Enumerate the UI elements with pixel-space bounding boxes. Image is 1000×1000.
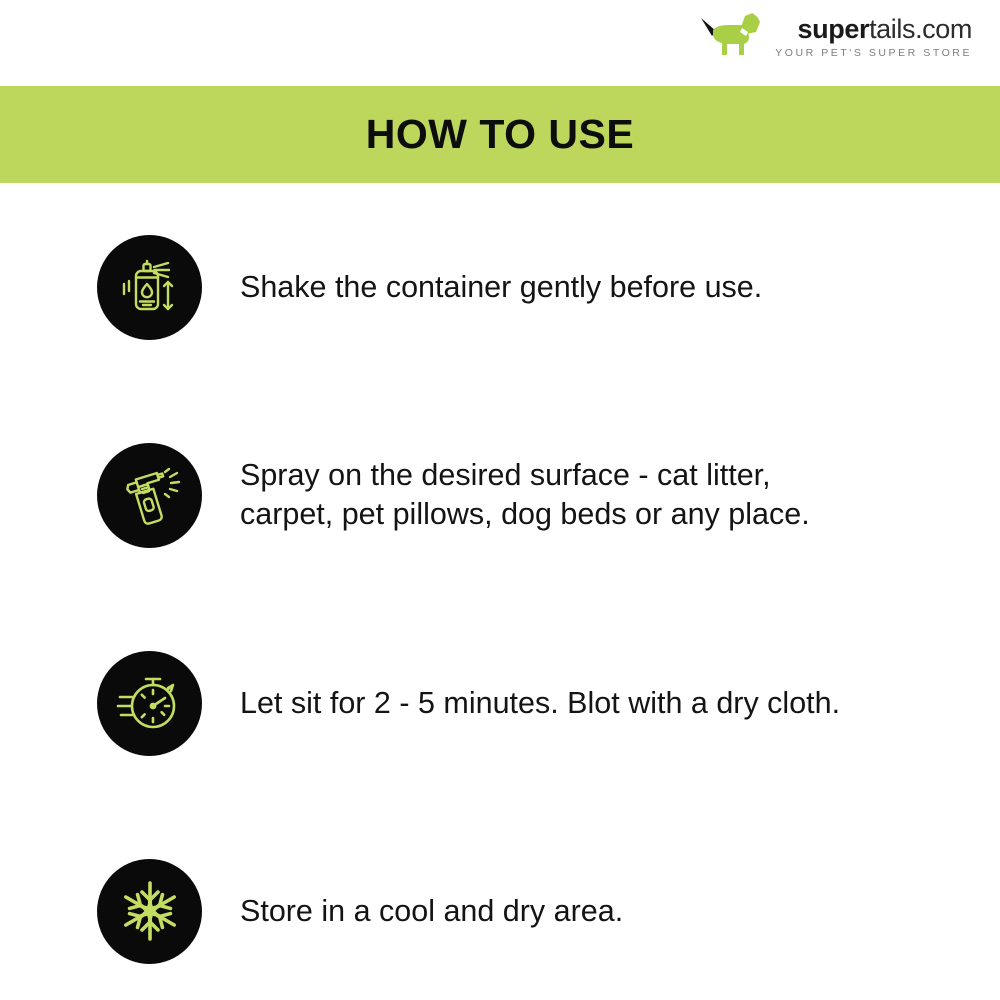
step-text-line: Shake the container gently before use. [240,268,762,307]
how-to-use-banner: HOW TO USE [0,86,1000,183]
page-title: HOW TO USE [366,111,634,158]
trigger-spray-bottle-icon [97,443,202,548]
header: supertails.com YOUR PET'S SUPER STORE [0,0,1000,86]
shake-spray-can-icon [97,235,202,340]
how-to-use-infographic: supertails.com YOUR PET'S SUPER STORE HO… [0,0,1000,1000]
step-text: Let sit for 2 - 5 minutes. Blot with a d… [240,684,840,723]
logo-wordmark: supertails.com [798,14,972,44]
step-text-line: Spray on the desired surface - cat litte… [240,456,810,495]
step-text: Store in a cool and dry area. [240,892,623,931]
step-text: Spray on the desired surface - cat litte… [240,456,810,534]
stopwatch-icon [97,651,202,756]
logo-wordmark-light: tails.com [869,14,972,44]
step-item: Let sit for 2 - 5 minutes. Blot with a d… [0,599,1000,807]
step-text-line: Let sit for 2 - 5 minutes. Blot with a d… [240,684,840,723]
steps-list: Shake the container gently before use. [0,183,1000,1000]
step-item: Store in a cool and dry area. [0,807,1000,1000]
step-item: Shake the container gently before use. [0,183,1000,391]
dog-logo-icon [699,10,765,62]
step-item: Spray on the desired surface - cat litte… [0,391,1000,599]
logo-tagline: YOUR PET'S SUPER STORE [775,47,972,59]
logo-wordmark-bold: super [798,14,870,44]
logo-wordmark-block: supertails.com YOUR PET'S SUPER STORE [775,14,972,59]
snowflake-icon [97,859,202,964]
supertails-logo[interactable]: supertails.com YOUR PET'S SUPER STORE [699,10,972,62]
step-text-line: Store in a cool and dry area. [240,892,623,931]
step-text-line: carpet, pet pillows, dog beds or any pla… [240,495,810,534]
step-text: Shake the container gently before use. [240,268,762,307]
